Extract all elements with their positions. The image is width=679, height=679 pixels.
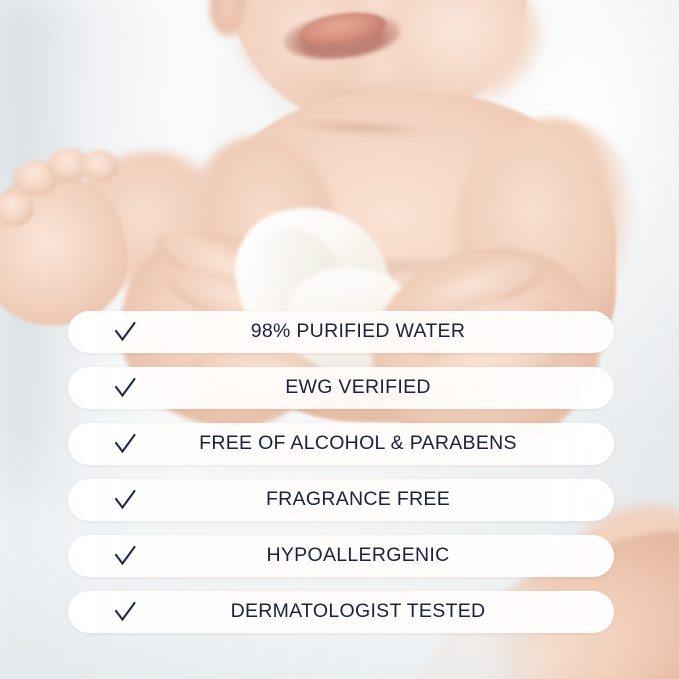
claims-list: 98% PURIFIED WATER EWG VERIFIED FREE OF …: [68, 311, 614, 633]
checkmark-icon: [112, 487, 138, 513]
claim-label: FREE OF ALCOHOL & PARABENS: [68, 434, 614, 454]
claim-item: HYPOALLERGENIC: [68, 535, 614, 577]
claim-label: 98% PURIFIED WATER: [68, 322, 614, 342]
feature-graphic: 98% PURIFIED WATER EWG VERIFIED FREE OF …: [0, 0, 679, 679]
checkmark-icon: [112, 599, 138, 625]
checkmark-icon: [112, 319, 138, 345]
checkmark-icon: [112, 543, 138, 569]
claim-label: HYPOALLERGENIC: [68, 546, 614, 566]
claim-label: DERMATOLOGIST TESTED: [68, 602, 614, 622]
claim-item: 98% PURIFIED WATER: [68, 311, 614, 353]
checkmark-icon: [112, 431, 138, 457]
checkmark-icon: [112, 375, 138, 401]
claim-item: EWG VERIFIED: [68, 367, 614, 409]
claim-label: FRAGRANCE FREE: [68, 490, 614, 510]
claim-item: FRAGRANCE FREE: [68, 479, 614, 521]
claim-label: EWG VERIFIED: [68, 378, 614, 398]
claim-item: FREE OF ALCOHOL & PARABENS: [68, 423, 614, 465]
baby-toe: [80, 150, 118, 182]
claim-item: DERMATOLOGIST TESTED: [68, 591, 614, 633]
